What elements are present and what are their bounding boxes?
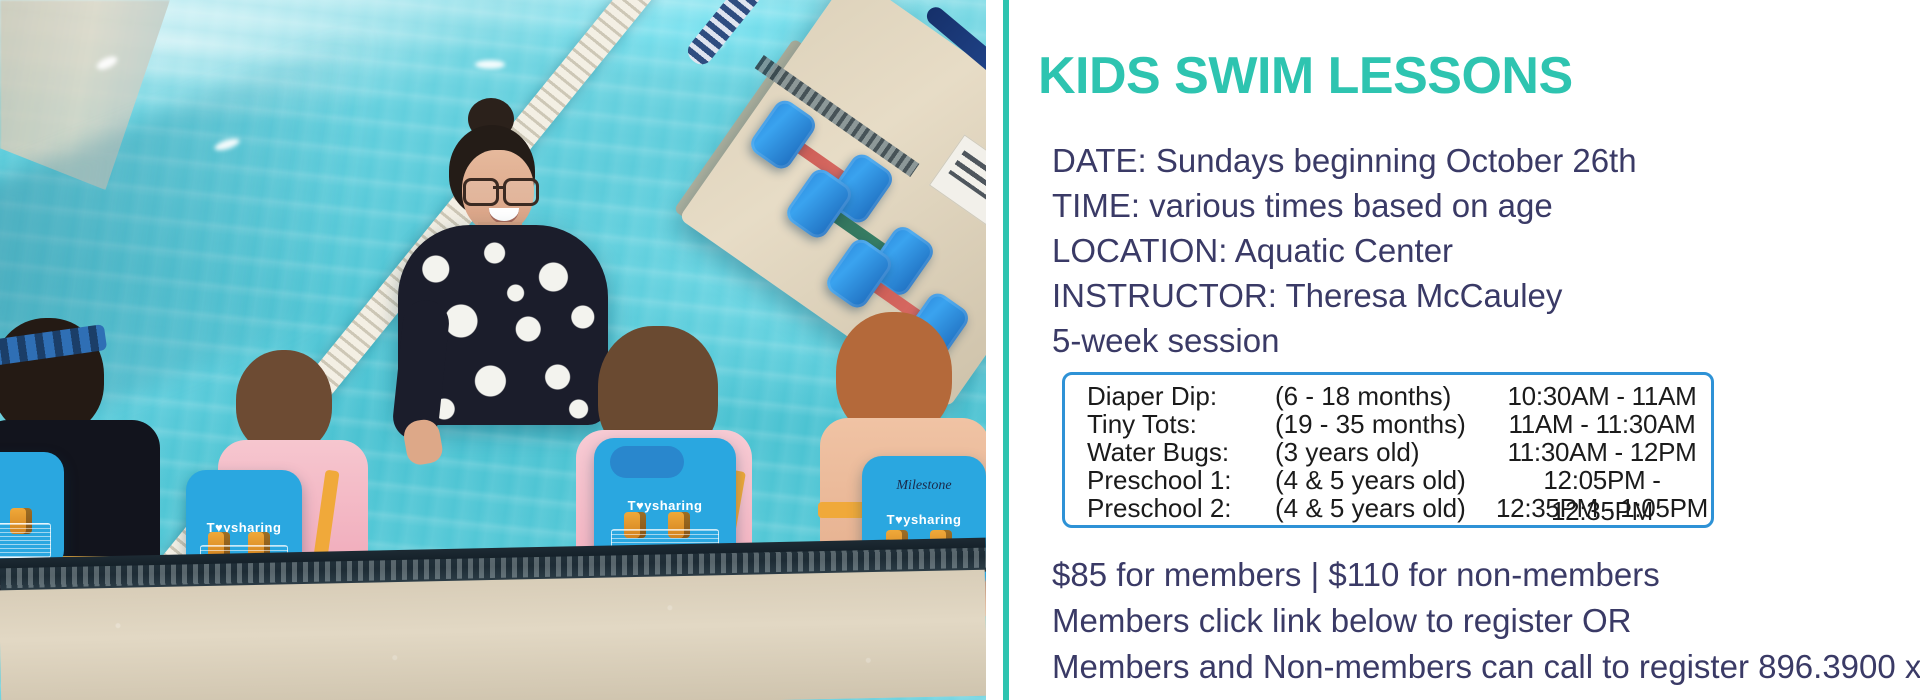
class-name: Preschool 1: — [1065, 465, 1275, 496]
page-title: KIDS SWIM LESSONS — [1038, 46, 1573, 106]
float-brand-label: T♥ysharing — [594, 498, 736, 513]
class-name: Water Bugs: — [1065, 437, 1275, 468]
class-age: (6 - 18 months) — [1275, 381, 1493, 412]
detail-location: LOCATION: Aquatic Center — [1052, 228, 1912, 273]
float-name-tag: Milestone — [862, 478, 986, 494]
class-time: 10:30AM - 11AM — [1493, 381, 1711, 412]
swim-lessons-poster: T♥ysharing T♥ysharing — [0, 0, 1920, 700]
float-logo-sticker — [610, 446, 684, 478]
pool-lesson-photo: T♥ysharing T♥ysharing — [0, 0, 986, 700]
session-details: DATE: Sundays beginning October 26th TIM… — [1052, 138, 1912, 363]
member-register-line: Members click link below to register OR — [1052, 598, 1920, 644]
detail-duration: 5-week session — [1052, 318, 1912, 363]
pricing-and-registration: $85 for members | $110 for non-members M… — [1052, 552, 1920, 690]
vertical-divider — [1003, 0, 1009, 700]
class-age: (19 - 35 months) — [1275, 409, 1493, 440]
price-line: $85 for members | $110 for non-members — [1052, 552, 1920, 598]
pool-deck — [0, 570, 986, 700]
child-head — [236, 350, 332, 454]
table-row: Tiny Tots: (19 - 35 months) 11AM - 11:30… — [1065, 409, 1711, 437]
detail-time: TIME: various times based on age — [1052, 183, 1912, 228]
water-glint — [475, 60, 505, 69]
class-time: 12:35PM - 1:05PM — [1493, 493, 1711, 524]
class-name: Tiny Tots: — [1065, 409, 1275, 440]
class-schedule-table: Diaper Dip: (6 - 18 months) 10:30AM - 11… — [1062, 372, 1714, 528]
class-age: (4 & 5 years old) — [1275, 465, 1493, 496]
float-backpack — [0, 452, 64, 570]
info-panel: KIDS SWIM LESSONS DATE: Sundays beginnin… — [1030, 0, 1920, 700]
deck-texture — [0, 570, 986, 700]
detail-date: DATE: Sundays beginning October 26th — [1052, 138, 1912, 183]
glasses-icon — [463, 178, 535, 200]
class-time: 11:30AM - 12PM — [1493, 437, 1711, 468]
table-row: Diaper Dip: (6 - 18 months) 10:30AM - 11… — [1065, 381, 1711, 409]
class-name: Preschool 2: — [1065, 493, 1275, 524]
detail-instructor: INSTRUCTOR: Theresa McCauley — [1052, 273, 1912, 318]
table-row: Preschool 1: (4 & 5 years old) 12:05PM -… — [1065, 465, 1711, 493]
class-age: (3 years old) — [1275, 437, 1493, 468]
class-age: (4 & 5 years old) — [1275, 493, 1493, 524]
float-brand-label: T♥ysharing — [862, 512, 986, 527]
phone-register-line: Members and Non-members can call to regi… — [1052, 644, 1920, 690]
table-row: Preschool 2: (4 & 5 years old) 12:35PM -… — [1065, 493, 1711, 521]
table-row: Water Bugs: (3 years old) 11:30AM - 12PM — [1065, 437, 1711, 465]
class-name: Diaper Dip: — [1065, 381, 1275, 412]
class-time: 11AM - 11:30AM — [1493, 409, 1711, 440]
float-brand-label: T♥ysharing — [186, 520, 302, 535]
